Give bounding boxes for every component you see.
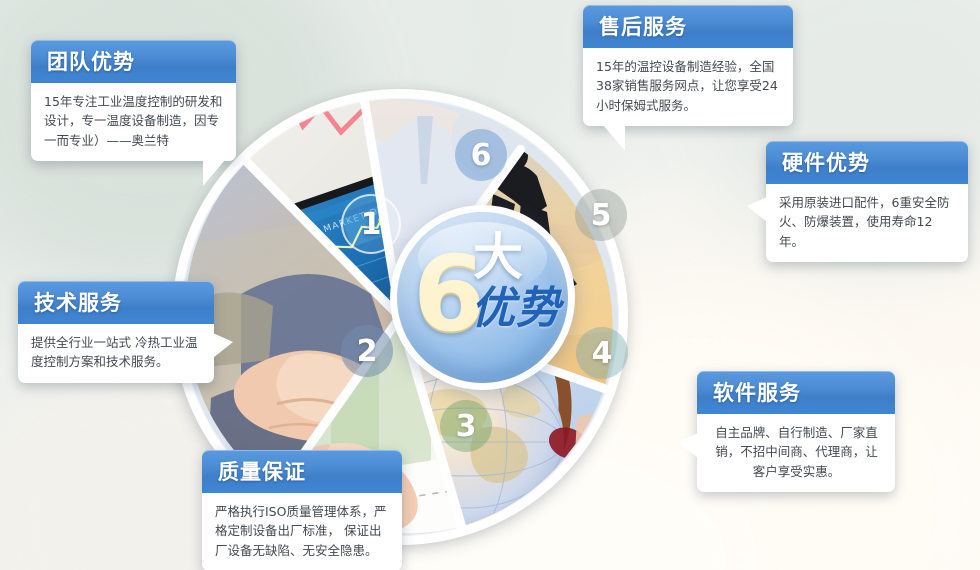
infographic-canvas: STOCK MARKET DATA INTC 44.95 [0,0,980,570]
card-tech[interactable]: 技术服务 提供全行业一站式 冷热工业温度控制方案和技术服务。 [18,281,214,383]
card-quality-body: 严格执行ISO质量管理体系，严格定制设备出厂标准， 保证出厂设备无缺陷、无安全隐… [202,493,402,570]
card-tech-tail [213,333,233,358]
card-team-body: 15年专注工业温度控制的研发和设计，专一温度设备制造，因专一而专业）——奥兰特 [31,83,236,161]
center-big-char: 大 [473,232,523,282]
card-hardware[interactable]: 硬件优势 采用原装进口配件，6重安全防火、防爆装置，使用寿命12年。 [766,141,968,262]
center-badge: 6 大 优势 [390,205,575,390]
segment-number-5[interactable]: 5 [575,189,627,241]
card-aftersales-title: 售后服务 [583,5,793,48]
segment-number-4[interactable]: 4 [576,327,628,379]
card-software[interactable]: 软件服务 自主品牌、自行制造、厂家直销，不招中间商、代理商，让客户享受实惠。 [697,371,895,492]
segment-number-3[interactable]: 3 [440,400,492,452]
segment-number-5-label: 5 [591,198,612,233]
center-word: 优势 [471,286,561,332]
segment-number-1-label: 1 [361,207,382,242]
segment-number-2[interactable]: 2 [341,325,393,377]
card-hardware-body: 采用原装进口配件，6重安全防火、防爆装置，使用寿命12年。 [766,184,968,262]
segment-number-2-label: 2 [357,334,378,369]
card-team[interactable]: 团队优势 15年专注工业温度控制的研发和设计，专一温度设备制造，因专一而专业）—… [31,40,236,161]
card-aftersales[interactable]: 售后服务 15年的温控设备制造经验，全国38家销售服务网点，让您享受24小时保姆… [583,5,793,126]
card-hardware-title: 硬件优势 [766,141,968,184]
segment-number-4-label: 4 [592,336,613,371]
card-hardware-tail [747,197,767,222]
segment-number-6-label: 6 [471,138,492,173]
card-quality[interactable]: 质量保证 严格执行ISO质量管理体系，严格定制设备出厂标准， 保证出厂设备无缺陷… [202,450,402,570]
segment-number-1[interactable]: 1 [341,194,401,254]
card-aftersales-body: 15年的温控设备制造经验，全国38家销售服务网点，让您享受24小时保姆式服务。 [583,48,793,126]
center-disc: 6 大 优势 [397,212,568,383]
card-software-title: 软件服务 [697,371,895,414]
segment-number-3-label: 3 [456,409,477,444]
card-aftersales-tail [603,125,625,151]
card-quality-title: 质量保证 [202,450,402,493]
segment-number-6[interactable]: 6 [455,129,507,181]
card-software-tail [678,433,698,458]
card-team-title: 团队优势 [31,40,236,83]
card-software-body: 自主品牌、自行制造、厂家直销，不招中间商、代理商，让客户享受实惠。 [697,414,895,492]
card-tech-title: 技术服务 [18,281,214,324]
card-team-tail [203,160,225,186]
card-tech-body: 提供全行业一站式 冷热工业温度控制方案和技术服务。 [18,324,214,383]
